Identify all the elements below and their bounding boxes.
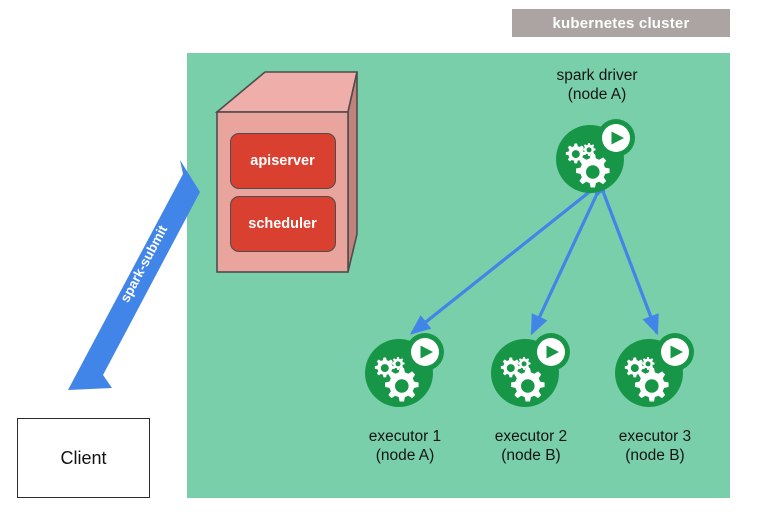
executor-1-node[interactable] [361, 330, 447, 410]
executor-3-node[interactable] [611, 330, 697, 410]
executor-2-caption: executor 2 (node B) [461, 427, 601, 465]
executor-1-subtitle: (node A) [376, 447, 435, 464]
executor-1-title: executor 1 [369, 428, 441, 445]
control-plane-components: apiserver scheduler [217, 112, 348, 272]
executor-1-caption: executor 1 (node A) [335, 427, 475, 465]
executor-2-node[interactable] [487, 330, 573, 410]
apiserver-box[interactable]: apiserver [230, 133, 336, 189]
executor-3-title: executor 3 [619, 428, 691, 445]
gears-play-node-icon [487, 330, 573, 410]
spark-driver-title: spark driver [557, 67, 638, 84]
control-plane-cube: apiserver scheduler [208, 62, 358, 274]
client-box[interactable]: Client [17, 418, 150, 498]
executor-3-subtitle: (node B) [625, 447, 684, 464]
gears-play-node-icon [611, 330, 697, 410]
scheduler-box[interactable]: scheduler [230, 196, 336, 252]
spark-driver-caption: spark driver (node A) [512, 66, 682, 104]
executor-2-title: executor 2 [495, 428, 567, 445]
executor-2-subtitle: (node B) [501, 447, 560, 464]
executor-3-caption: executor 3 (node B) [585, 427, 725, 465]
spark-driver-subtitle: (node A) [568, 86, 627, 103]
diagram-canvas: kubernetes cluster apiserver scheduler s… [0, 0, 761, 516]
spark-driver-node[interactable] [552, 116, 638, 196]
gears-play-node-icon [361, 330, 447, 410]
kubernetes-cluster-label: kubernetes cluster [512, 9, 730, 37]
gears-play-node-icon [552, 116, 638, 196]
